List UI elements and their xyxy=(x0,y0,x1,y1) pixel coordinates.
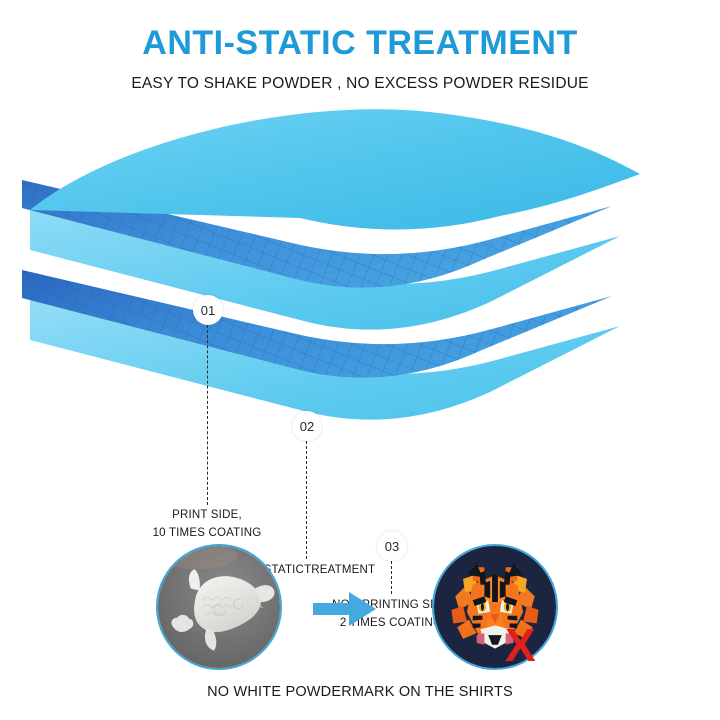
layer-stack-svg xyxy=(0,104,720,534)
callout-01-line1: PRINT SIDE, xyxy=(107,507,307,525)
layer-badge-02[interactable]: 02 xyxy=(292,411,322,441)
tiger-print-illustration xyxy=(434,546,556,668)
layer-sheet-top-print xyxy=(30,109,640,229)
leader-line-01 xyxy=(207,325,208,505)
koi-print-illustration xyxy=(158,546,280,668)
page-header: ANTI-STATIC TREATMENT EASY TO SHAKE POWD… xyxy=(0,0,720,93)
clean-print-photo xyxy=(432,544,558,670)
layer-badge-01[interactable]: 01 xyxy=(193,295,223,325)
arrow-right-icon xyxy=(313,590,377,628)
layer-badge-01-label: 01 xyxy=(201,303,215,318)
red-x-mark: X xyxy=(505,622,536,668)
page-subtitle: EASY TO SHAKE POWDER , NO EXCESS POWDER … xyxy=(0,62,720,93)
transition-arrow xyxy=(313,590,377,628)
infographic-page: ANTI-STATIC TREATMENT EASY TO SHAKE POWD… xyxy=(0,0,720,720)
powder-residue-photo xyxy=(156,544,282,670)
comparison-caption: NO WHITE POWDERMARK ON THE SHIRTS xyxy=(0,684,720,700)
layer-stack-diagram: 01 02 03 PRINT SIDE, 10 TIMES COATING AN… xyxy=(0,104,720,534)
layer-badge-02-label: 02 xyxy=(300,419,314,434)
page-title: ANTI-STATIC TREATMENT xyxy=(0,0,720,62)
comparison-section: X NO WHITE POWDERMARK ON THE SHIRTS xyxy=(0,538,720,720)
